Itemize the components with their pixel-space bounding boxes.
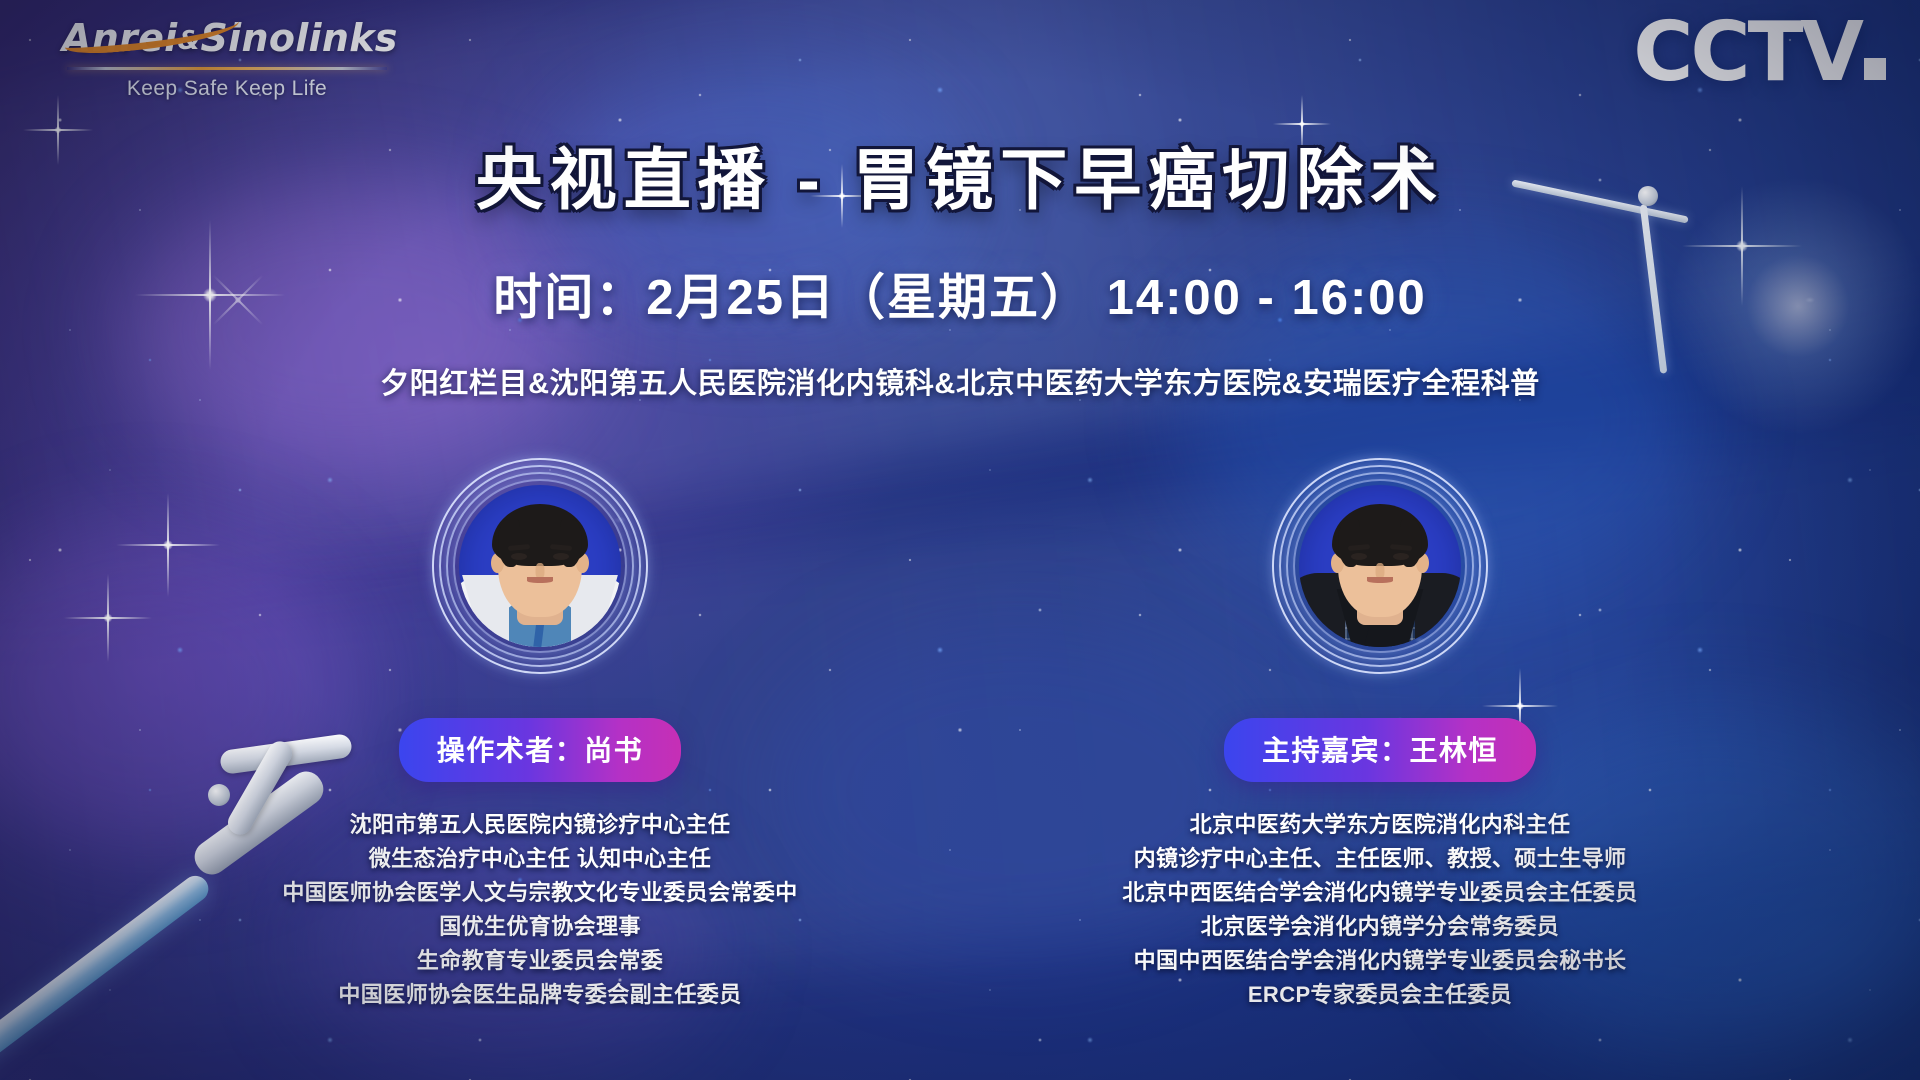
cctv-logo-text: CCTV [1633,5,1861,100]
page-title: 央视直播 - 胃镜下早癌切除术 [0,126,1920,223]
speaker-credentials: 沈阳市第五人民医院内镜诊疗中心主任 微生态治疗中心主任 认知中心主任 中国医师协… [160,808,920,1012]
brand-tagline: Keep Safe Keep Life [62,77,392,101]
credential-line: 北京中医药大学东方医院消化内科主任 [1000,808,1760,842]
speaker-role-badge: 操作术者：尚书 [399,718,682,782]
speaker-card-operator: 操作术者：尚书 沈阳市第五人民医院内镜诊疗中心主任 微生态治疗中心主任 认知中心… [160,458,920,1012]
organizers-line: 夕阳红栏目&沈阳第五人民医院消化内镜科&北京中医药大学东方医院&安瑞医疗全程科普 [0,360,1920,402]
speaker-role-badge: 主持嘉宾：王林恒 [1224,718,1536,782]
cctv-logo: CCTV [1633,12,1886,94]
avatar [1272,458,1488,674]
avatar-photo-operator [459,485,621,647]
live-broadcast-poster: Anrei&Sinolinks Keep Safe Keep Life CCTV… [0,0,1920,1080]
credential-line: 中国医师协会医学人文与宗教文化专业委员会常委中 [160,876,920,910]
avatar [432,458,648,674]
credential-line: 沈阳市第五人民医院内镜诊疗中心主任 [160,808,920,842]
avatar-photo-host [1299,485,1461,647]
credential-line: 生命教育专业委员会常委 [160,944,920,978]
credential-line: 中国医师协会医生品牌专委会副主任委员 [160,978,920,1012]
brand-wordmark: Anrei&Sinolinks [62,16,392,60]
brand-divider [67,67,387,70]
mouth [1367,577,1393,583]
credential-line: 北京中西医结合学会消化内镜学专业委员会主任委员 [1000,876,1760,910]
speaker-card-host: 主持嘉宾：王林恒 北京中医药大学东方医院消化内科主任 内镜诊疗中心主任、主任医师… [1000,458,1760,1012]
credential-line: 内镜诊疗中心主任、主任医师、教授、硕士生导师 [1000,842,1760,876]
eye [1351,553,1367,560]
cctv-logo-dot [1864,58,1886,80]
broadcast-time: 时间：2月25日（星期五） 14:00 - 16:00 [0,258,1920,329]
brand-logo: Anrei&Sinolinks Keep Safe Keep Life [62,16,392,101]
credential-line: 北京医学会消化内镜学分会常务委员 [1000,910,1760,944]
mouth [527,577,553,583]
eye [511,553,527,560]
speaker-credentials: 北京中医药大学东方医院消化内科主任 内镜诊疗中心主任、主任医师、教授、硕士生导师… [1000,808,1760,1012]
credential-line: ERCP专家委员会主任委员 [1000,978,1760,1012]
credential-line: 国优生优育协会理事 [160,910,920,944]
credential-line: 中国中西医结合学会消化内镜学专业委员会秘书长 [1000,944,1760,978]
nebula-wisp [120,180,580,480]
credential-line: 微生态治疗中心主任 认知中心主任 [160,842,920,876]
